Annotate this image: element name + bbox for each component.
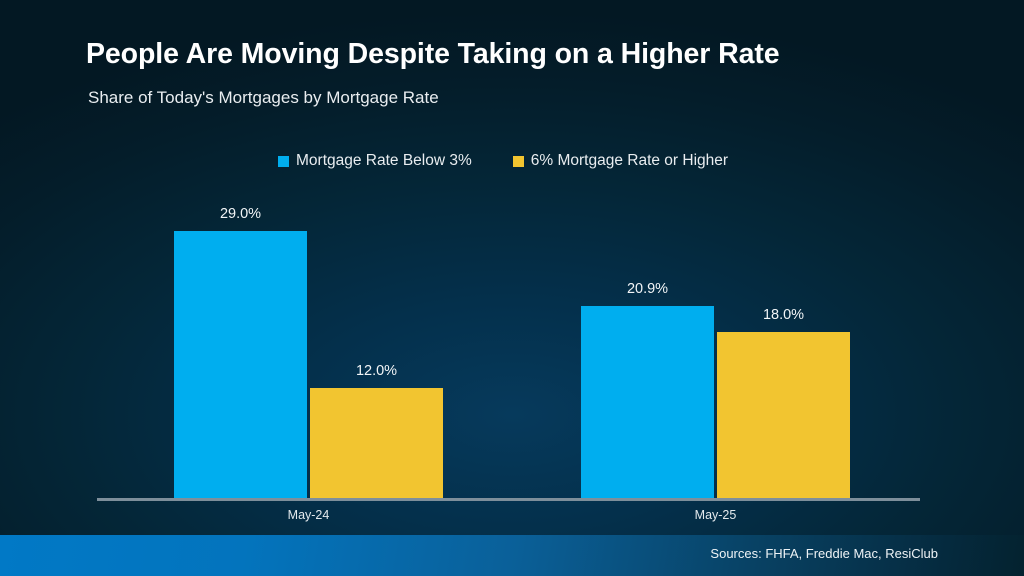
bar-may-25-series1[interactable]: [581, 306, 714, 498]
bar-may-24-series1[interactable]: [174, 231, 307, 498]
bar-value-label: 20.9%: [581, 281, 714, 297]
plot-area: 29.0%12.0%May-2420.9%18.0%May-25: [0, 0, 1024, 576]
bar-value-label: 18.0%: [717, 307, 850, 323]
bar-may-25-series2[interactable]: [717, 332, 850, 498]
bar-value-label: 29.0%: [174, 206, 307, 222]
bar-value-label: 12.0%: [310, 363, 443, 379]
bar-may-24-series2[interactable]: [310, 388, 443, 498]
x-axis-line: [97, 498, 920, 501]
chart-slide: People Are Moving Despite Taking on a Hi…: [0, 0, 1024, 576]
x-axis-label-may-25: May-25: [581, 508, 850, 522]
x-axis-label-may-24: May-24: [174, 508, 443, 522]
sources-note: Sources: FHFA, Freddie Mac, ResiClub: [710, 546, 938, 561]
